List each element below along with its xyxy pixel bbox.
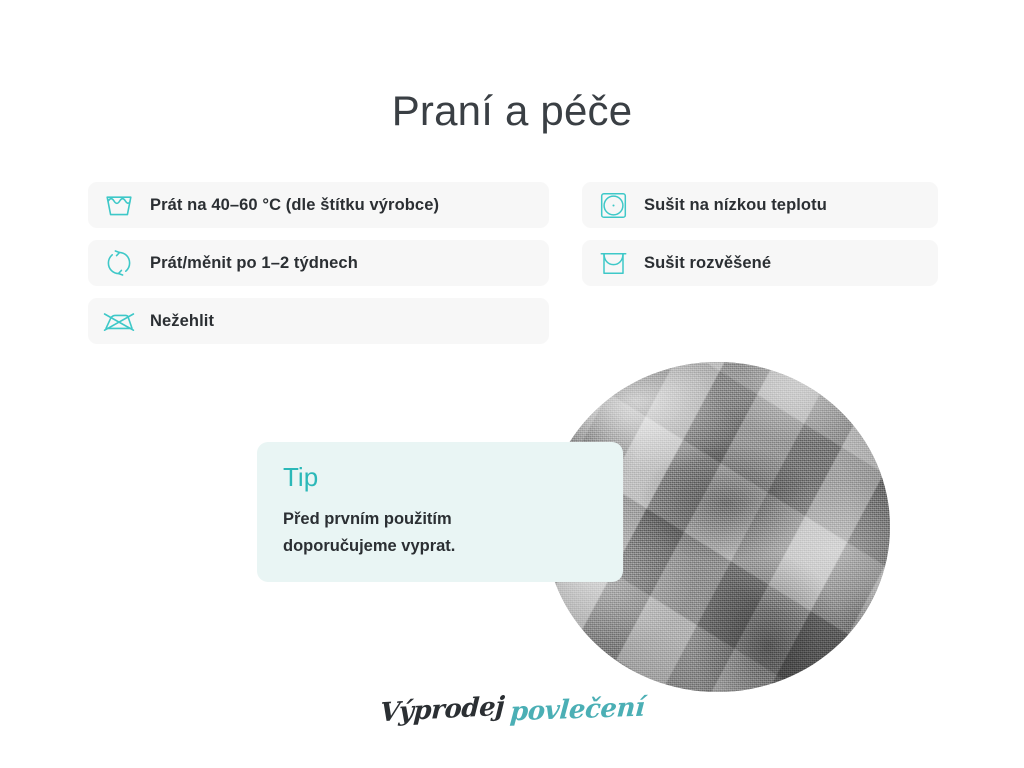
care-row-wash-frequency[interactable]: Prát/měnit po 1–2 týdnech — [88, 240, 549, 286]
refresh-cycle-icon — [102, 248, 136, 278]
care-instructions: Prát na 40–60 °C (dle štítku výrobce) Pr… — [0, 182, 1024, 352]
brand-logo-word-2: povlečení — [509, 693, 646, 728]
line-dry-icon — [596, 248, 630, 278]
care-row-label: Sušit rozvěšené — [644, 254, 771, 273]
wash-tub-icon — [102, 190, 136, 220]
care-row-label: Nežehlit — [150, 312, 214, 331]
care-row-wash-temperature[interactable]: Prát na 40–60 °C (dle štítku výrobce) — [88, 182, 549, 228]
tip-body-line-2: doporučujeme vyprat. — [283, 533, 597, 560]
page-title: Praní a péče — [0, 86, 1024, 136]
care-row-line-dry[interactable]: Sušit rozvěšené — [582, 240, 938, 286]
tip-body-line-1: Před prvním použitím — [283, 506, 597, 533]
tip-body: Před prvním použitím doporučujeme vyprat… — [283, 506, 597, 559]
tip-card: Tip Před prvním použitím doporučujeme vy… — [257, 442, 623, 582]
brand-logo-word-1: Výprodej — [379, 692, 505, 729]
care-row-label: Prát na 40–60 °C (dle štítku výrobce) — [150, 196, 439, 215]
brand-logo[interactable]: Výprodejpovlečení — [0, 695, 1024, 725]
care-row-label: Prát/měnit po 1–2 týdnech — [150, 254, 358, 273]
tip-title: Tip — [283, 464, 597, 490]
care-row-no-iron[interactable]: Nežehlit — [88, 298, 549, 344]
care-row-tumble-dry-low[interactable]: Sušit na nízkou teplotu — [582, 182, 938, 228]
tumble-dry-low-icon — [596, 190, 630, 220]
care-row-label: Sušit na nízkou teplotu — [644, 196, 827, 215]
care-column-left: Prát na 40–60 °C (dle štítku výrobce) Pr… — [88, 182, 549, 356]
care-column-right: Sušit na nízkou teplotu Sušit rozvěšené — [582, 182, 938, 298]
no-iron-icon — [102, 306, 136, 336]
